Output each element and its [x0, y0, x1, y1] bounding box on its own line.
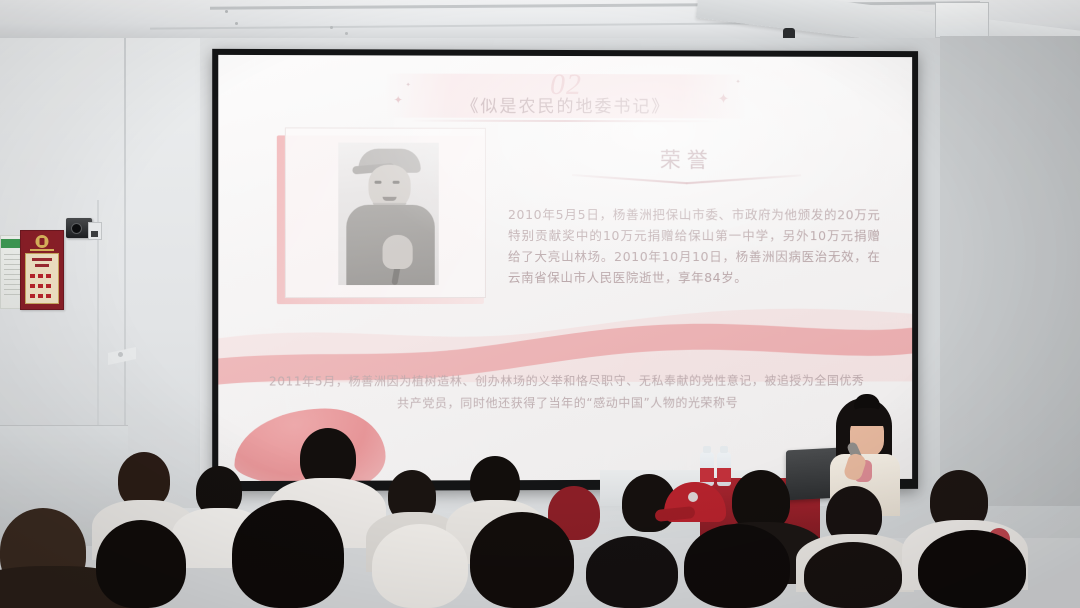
wall-mark [118, 352, 123, 357]
section-title: 《似是农民的地委书记》 [461, 92, 670, 118]
portrait-card [277, 127, 490, 304]
portrait-photo [338, 143, 439, 285]
right-wall [940, 36, 1080, 506]
emblem-icon [36, 235, 49, 248]
heading-chevron-rule [572, 174, 801, 188]
mouth-shape [383, 197, 397, 201]
poster-title-bar [32, 258, 52, 261]
eye-shape [393, 181, 400, 184]
projector-mount-icon [935, 2, 989, 38]
wall-seam [124, 38, 126, 438]
cap-logo-icon [688, 492, 698, 502]
star-icon: ✦ [718, 90, 730, 107]
ceiling-speck [330, 26, 333, 29]
audience-head-front [232, 500, 344, 608]
projection-screen: ✦ ✦ ✦ ✦ 02 《似是农民的地委书记》 荣誉 [218, 55, 912, 481]
star-icon: ✦ [406, 82, 411, 89]
poster-row [30, 274, 54, 278]
water-bottle [717, 452, 731, 486]
ceiling-speck [235, 22, 238, 25]
projection-screen-frame: ✦ ✦ ✦ ✦ 02 《似是农民的地委书记》 荣誉 [212, 49, 918, 491]
poster-row [30, 284, 54, 288]
slide-footer-paragraph: 2011年5月，杨善洲因为植树造林、创办林场的义举和恪尽职守、无私奉献的党性意记… [267, 370, 867, 415]
honor-roll-poster [20, 230, 64, 310]
audience-head-front [96, 520, 186, 608]
notice-text-lines [4, 254, 20, 298]
star-icon: ✦ [394, 94, 403, 107]
eye-shape [374, 181, 381, 184]
hair-front-shape [846, 408, 888, 426]
poster-row [30, 294, 54, 298]
poster-divider [30, 249, 54, 251]
slide-title-banner: ✦ ✦ ✦ ✦ 02 《似是农民的地委书记》 [386, 73, 746, 122]
slide-heading-group: 荣誉 [572, 144, 801, 190]
banner-underline [410, 120, 720, 123]
audience-head-front [470, 512, 574, 608]
slide-body-paragraph: 2010年5月5日，杨善洲把保山市委、市政府为他颁发的20万元特别贡献奖中的10… [508, 204, 880, 288]
audience-head-front [918, 530, 1026, 608]
hand-shape [383, 235, 413, 269]
slide-heading: 荣誉 [660, 144, 714, 174]
audience-head-front [586, 536, 678, 608]
ceiling-speck [345, 32, 348, 35]
portrait-frame [285, 127, 486, 298]
star-icon: ✦ [736, 78, 741, 85]
wall-outlet-icon [88, 222, 102, 240]
poster-subtitle-bar [35, 264, 49, 267]
audience-head-front [372, 524, 468, 608]
audience-head-front [804, 542, 902, 608]
lecture-hall-screenshot: ✦ ✦ ✦ ✦ 02 《似是农民的地委书记》 荣誉 [0, 0, 1080, 608]
water-bottle [700, 452, 714, 486]
ceiling-speck [225, 10, 228, 13]
audience-head-front [684, 524, 790, 608]
poster-body [25, 253, 59, 304]
